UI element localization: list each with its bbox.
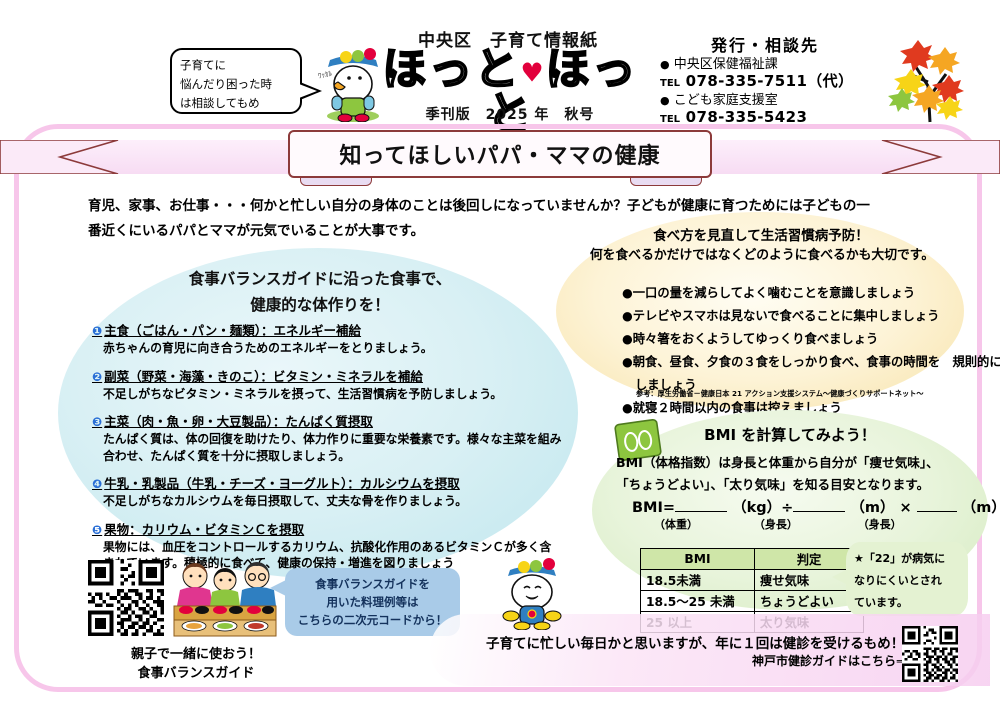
food-item-title: ❹牛乳・乳製品（牛乳・チーズ・ヨーグルト）：カルシウムを摂取 [92, 475, 562, 493]
bmi-unit-kg: （kg） [732, 500, 781, 516]
bmi-heading: BMI を計算してみよう！ [660, 424, 920, 445]
banner-title: 知ってほしいパパ・ママの健康 [340, 138, 661, 170]
ribbon-right-end-icon [880, 140, 1000, 174]
balance-guide-heading-line1: 食事バランスガイドに沿った食事で、 [110, 266, 530, 292]
list-item: ❷副菜（野菜・海藻・きのこ）：ビタミン・ミネラルを補給 不足しがちなビタミン・ミ… [92, 368, 562, 403]
food-item-title: ❺果物：カリウム・ビタミンＣを摂取 [92, 521, 562, 539]
bmi-unit-m1: （m） [850, 500, 894, 516]
contact-org-1: ● 中央区保健福祉課 [660, 56, 870, 73]
bmi-range-cell: 18.5未満 [641, 570, 755, 591]
health-checkup-qr-code[interactable] [902, 626, 958, 682]
food-item-title: ❸主菜（肉・魚・卵・大豆製品）：たんぱく質摂取 [92, 413, 562, 431]
food-item-desc: たんぱく質は、体の回復を助けたり、体力作りに重要な栄養素です。様々な主菜を組み合… [92, 431, 562, 464]
newsletter-page: 中央区 子育て情報紙 ほっと♥ほっと 季刊版 2025 年 秋号 子育てに 悩ん… [0, 0, 1000, 707]
food-item-title-text: 主食（ごはん・パン・麺類）：エネルギー補給 [104, 323, 361, 338]
food-item-desc: 赤ちゃんの育児に向き合うためのエネルギーをとりましょう。 [92, 340, 562, 357]
eating-habits-heading: 食べ方を見直して生活習慣病予防！ [586, 224, 936, 244]
bmi-label-height-2: （身長） [832, 516, 928, 532]
list-item: ●一口の量を減らしてよく噛むことを意識しましょう [622, 282, 1000, 305]
bmi-weight-blank[interactable] [675, 511, 727, 512]
table-row: 18.5～25 未満 ちょうどよい [641, 591, 864, 612]
pin-icon: ❸ [92, 415, 102, 429]
bmi-note-line2: なりにくいとされ [854, 570, 960, 592]
eating-habits-list: ●一口の量を減らしてよく噛むことを意識しましょう ●テレビやスマホは見ないで食べ… [582, 282, 1000, 420]
bullet-icon: ● [660, 58, 670, 71]
bmi-formula-labels: （体重） （身長） （身長） [632, 516, 962, 532]
food-item-title-text: 主菜（肉・魚・卵・大豆製品）：たんぱく質摂取 [104, 414, 373, 429]
list-item: ❹牛乳・乳製品（牛乳・チーズ・ヨーグルト）：カルシウムを摂取 不足しがちなカルシ… [92, 475, 562, 510]
bmi-formula-prefix: BMI= [632, 500, 675, 516]
food-item-title-text: 牛乳・乳製品（牛乳・チーズ・ヨーグルト）：カルシウムを摂取 [104, 476, 460, 491]
bmi-formula: BMI= （kg）÷ （m） × （m） [632, 496, 962, 517]
contact-org-2-label: こども家庭支援室 [674, 93, 778, 108]
bubble-line-1: 子育てに [180, 56, 292, 75]
bmi-note-line1: ★「22」が病気に [854, 548, 960, 570]
qr-bubble-line2: 用いた料理例等は [327, 593, 419, 611]
bmi-note-line3: ています。 [854, 592, 960, 614]
issue-subtitle: 季刊版 2025 年 秋号 [370, 104, 650, 124]
bubble-line-2: 悩んだり困った時 [180, 75, 292, 94]
pin-icon: ❶ [92, 324, 102, 338]
mascot-speech-bubble: 子育てに 悩んだり困った時 は相談してもめ [170, 48, 302, 114]
bmi-lead: BMI（体格指数）は身長と体重から自分が「痩せ気味」、 「ちょうどよい」、「太り… [616, 452, 976, 496]
food-item-desc: 不足しがちなビタミン・ミネラルを摂って、生活習慣病を予防しましょう。 [92, 386, 562, 403]
bmi-unit-m2: （m） [962, 500, 1000, 516]
ribbon-left-end-icon [0, 140, 120, 174]
contact-title: 発行・相談先 [660, 32, 870, 56]
contact-tel-1-number: 078-335-7511（代） [686, 72, 854, 90]
source-citation: 参考：厚生労働省－健康日本 21 アクション支援システム～健康づくりサポートネッ… [636, 389, 984, 399]
qr-bubble-line1: 食事バランスガイドを [315, 575, 430, 593]
food-item-title: ❶主食（ごはん・パン・麺類）：エネルギー補給 [92, 322, 562, 340]
bubble-line-3: は相談してもめ [180, 94, 292, 113]
food-item-title: ❷副菜（野菜・海藻・きのこ）：ビタミン・ミネラルを補給 [92, 368, 562, 386]
banner-title-plate: 知ってほしいパパ・ママの健康 [288, 130, 712, 178]
food-item-desc: 不足しがちなカルシウムを毎日摂取して、丈夫な骨を作りましょう。 [92, 493, 562, 510]
bmi-lead-line1: BMI（体格指数）は身長と体重から自分が「痩せ気味」、 [616, 452, 976, 474]
autumn-leaves-icon [884, 36, 974, 126]
eating-habits-lead: 何を食べるかだけではなくどのように食べるかも大切です。 [566, 244, 958, 263]
food-group-list: ❶主食（ごはん・パン・麺類）：エネルギー補給 赤ちゃんの育児に向き合うためのエネ… [92, 322, 562, 583]
balance-guide-heading-line2: 健康的な体作りを！ [110, 292, 530, 318]
balance-guide-qr-code[interactable] [88, 560, 164, 636]
bubble-tail-inner [299, 84, 317, 98]
bmi-range-cell: 18.5～25 未満 [641, 591, 755, 612]
qr-caption: 親子で一緒に使おう！ 食事バランスガイド [86, 645, 306, 683]
bullet-icon-2: ● [660, 94, 670, 107]
duck-mascot-bottom-icon [496, 548, 568, 630]
bmi-lead-line2: 「ちょうどよい」、「太り気味」を知る目安となります。 [616, 474, 976, 496]
table-header-row: BMI 判定 [641, 549, 864, 570]
food-item-title-text: 果物：カリウム・ビタミンＣを摂取 [104, 522, 304, 537]
table-row: 18.5未満 痩せ気味 [641, 570, 864, 591]
contact-tel-1: TEL 078-335-7511（代） [660, 73, 870, 92]
contact-org-1-label: 中央区保健福祉課 [674, 57, 778, 72]
qr-bubble-line3: こちらの二次元コードから！ [298, 611, 448, 629]
food-item-title-text: 副菜（野菜・海藻・きのこ）：ビタミン・ミネラルを補給 [104, 369, 423, 384]
column-header-bmi: BMI [641, 549, 755, 570]
pin-icon: ❷ [92, 370, 102, 384]
list-item: ❶主食（ごはん・パン・麺類）：エネルギー補給 赤ちゃんの育児に向き合うためのエネ… [92, 322, 562, 357]
list-item: ●時々箸をおくようしてゆっくり食べましょう [622, 328, 1000, 351]
bmi-divide-symbol: ÷ [781, 500, 793, 516]
balance-guide-heading: 食事バランスガイドに沿った食事で、 健康的な体作りを！ [110, 266, 530, 318]
contact-block: 発行・相談先 ● 中央区保健福祉課 TEL 078-335-7511（代） ● … [660, 32, 870, 128]
pin-icon: ❺ [92, 523, 102, 537]
bmi-label-weight: （体重） [632, 516, 720, 532]
qr-caption-line1: 親子で一緒に使おう！ [86, 645, 306, 664]
list-item: ❸主菜（肉・魚・卵・大豆製品）：たんぱく質摂取 たんぱく質は、体の回復を助けたり… [92, 413, 562, 464]
footer-guide-label: 神戸市健診ガイドはこちら⇒ [486, 652, 906, 669]
heart-icon: ♥ [520, 58, 545, 88]
footer-message: 子育てに忙しい毎日かと思いますが、年に１回は健診を受けるもめ！ [486, 632, 906, 652]
bmi-height1-blank[interactable] [793, 511, 845, 512]
duck-mascot-top-icon [318, 36, 388, 122]
bmi-multiply-symbol: × [900, 500, 912, 516]
bmi-height2-blank[interactable] [917, 511, 957, 512]
bmi-label-height-1: （身長） [724, 516, 828, 532]
pin-icon: ❹ [92, 477, 102, 491]
contact-org-2: ● こども家庭支援室 [660, 92, 870, 109]
bmi-note-bubble: ★「22」が病気に なりにくいとされ ています。 [846, 542, 968, 616]
tel-icon: TEL [660, 78, 680, 89]
family-meal-illustration [170, 558, 280, 640]
list-item: ●テレビやスマホは見ないで食べることに集中しましょう [622, 305, 1000, 328]
qr-speech-bubble: 食事バランスガイドを 用いた料理例等は こちらの二次元コードから！ [285, 568, 460, 636]
qr-caption-line2: 食事バランスガイド [86, 664, 306, 683]
